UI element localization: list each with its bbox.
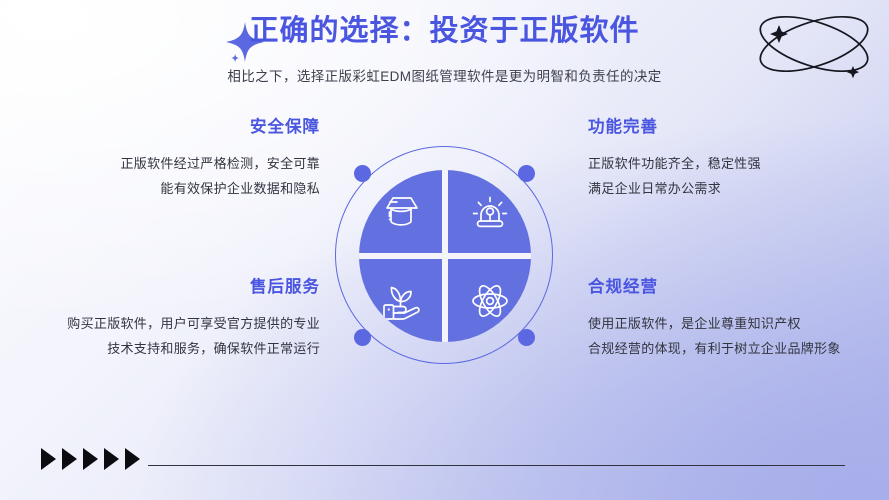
page-subtitle: 相比之下，选择正版彩虹EDM图纸管理软件是更为明智和负责任的决定: [0, 65, 889, 85]
feature-line: 合规经营的体现，有利于树立企业品牌形象: [588, 336, 888, 361]
feature-title-security: 安全保障: [20, 118, 320, 138]
feature-line: 正版软件经过严格检测，安全可靠: [20, 151, 320, 176]
feature-title-after-sales: 售后服务: [10, 278, 320, 298]
play-triangle-icon: [41, 448, 56, 470]
slide-canvas: 正确的选择：投资于正版软件 相比之下，选择正版彩虹EDM图纸管理软件是更为明智和…: [0, 0, 889, 500]
feature-line: 购买正版软件，用户可享受官方提供的专业: [10, 311, 320, 336]
hand-sprout-icon: [380, 282, 422, 320]
page-title: 正确的选择：投资于正版软件: [249, 14, 639, 49]
quadrant-disc: [359, 170, 531, 342]
play-triangle-icon: [62, 448, 77, 470]
feature-line: 能有效保护企业数据和隐私: [20, 176, 320, 201]
feature-block-compliance: 合规经营 使用正版软件，是企业尊重知识产权 合规经营的体现，有利于树立企业品牌形…: [588, 278, 888, 361]
feature-title-functionality: 功能完善: [588, 118, 888, 138]
bottom-divider: [148, 465, 845, 466]
atom-icon: [469, 280, 511, 322]
feature-line: 满足企业日常办公需求: [588, 176, 888, 201]
play-triangle-icon: [125, 448, 140, 470]
feature-line: 正版软件功能齐全，稳定性强: [588, 151, 888, 176]
arrow-marker-group: [41, 448, 140, 470]
feature-block-security: 安全保障 正版软件经过严格检测，安全可靠 能有效保护企业数据和隐私: [20, 118, 320, 201]
open-box-icon: [381, 193, 421, 231]
play-triangle-icon: [104, 448, 119, 470]
feature-line: 技术支持和服务，确保软件正常运行: [10, 336, 320, 361]
feature-block-after-sales: 售后服务 购买正版软件，用户可享受官方提供的专业 技术支持和服务，确保软件正常运…: [10, 278, 320, 361]
siren-alarm-icon: [470, 192, 510, 232]
feature-title-compliance: 合规经营: [588, 278, 888, 298]
play-triangle-icon: [83, 448, 98, 470]
quadrant-top-right[interactable]: [445, 170, 531, 256]
quadrant-bottom-right[interactable]: [445, 256, 531, 342]
feature-block-functionality: 功能完善 正版软件功能齐全，稳定性强 满足企业日常办公需求: [588, 118, 888, 201]
quadrant-top-left[interactable]: [359, 170, 445, 256]
central-diagram: [322, 133, 568, 379]
feature-line: 使用正版软件，是企业尊重知识产权: [588, 311, 888, 336]
page-title-wrapper: 正确的选择：投资于正版软件: [0, 14, 889, 49]
quadrant-bottom-left[interactable]: [359, 256, 445, 342]
